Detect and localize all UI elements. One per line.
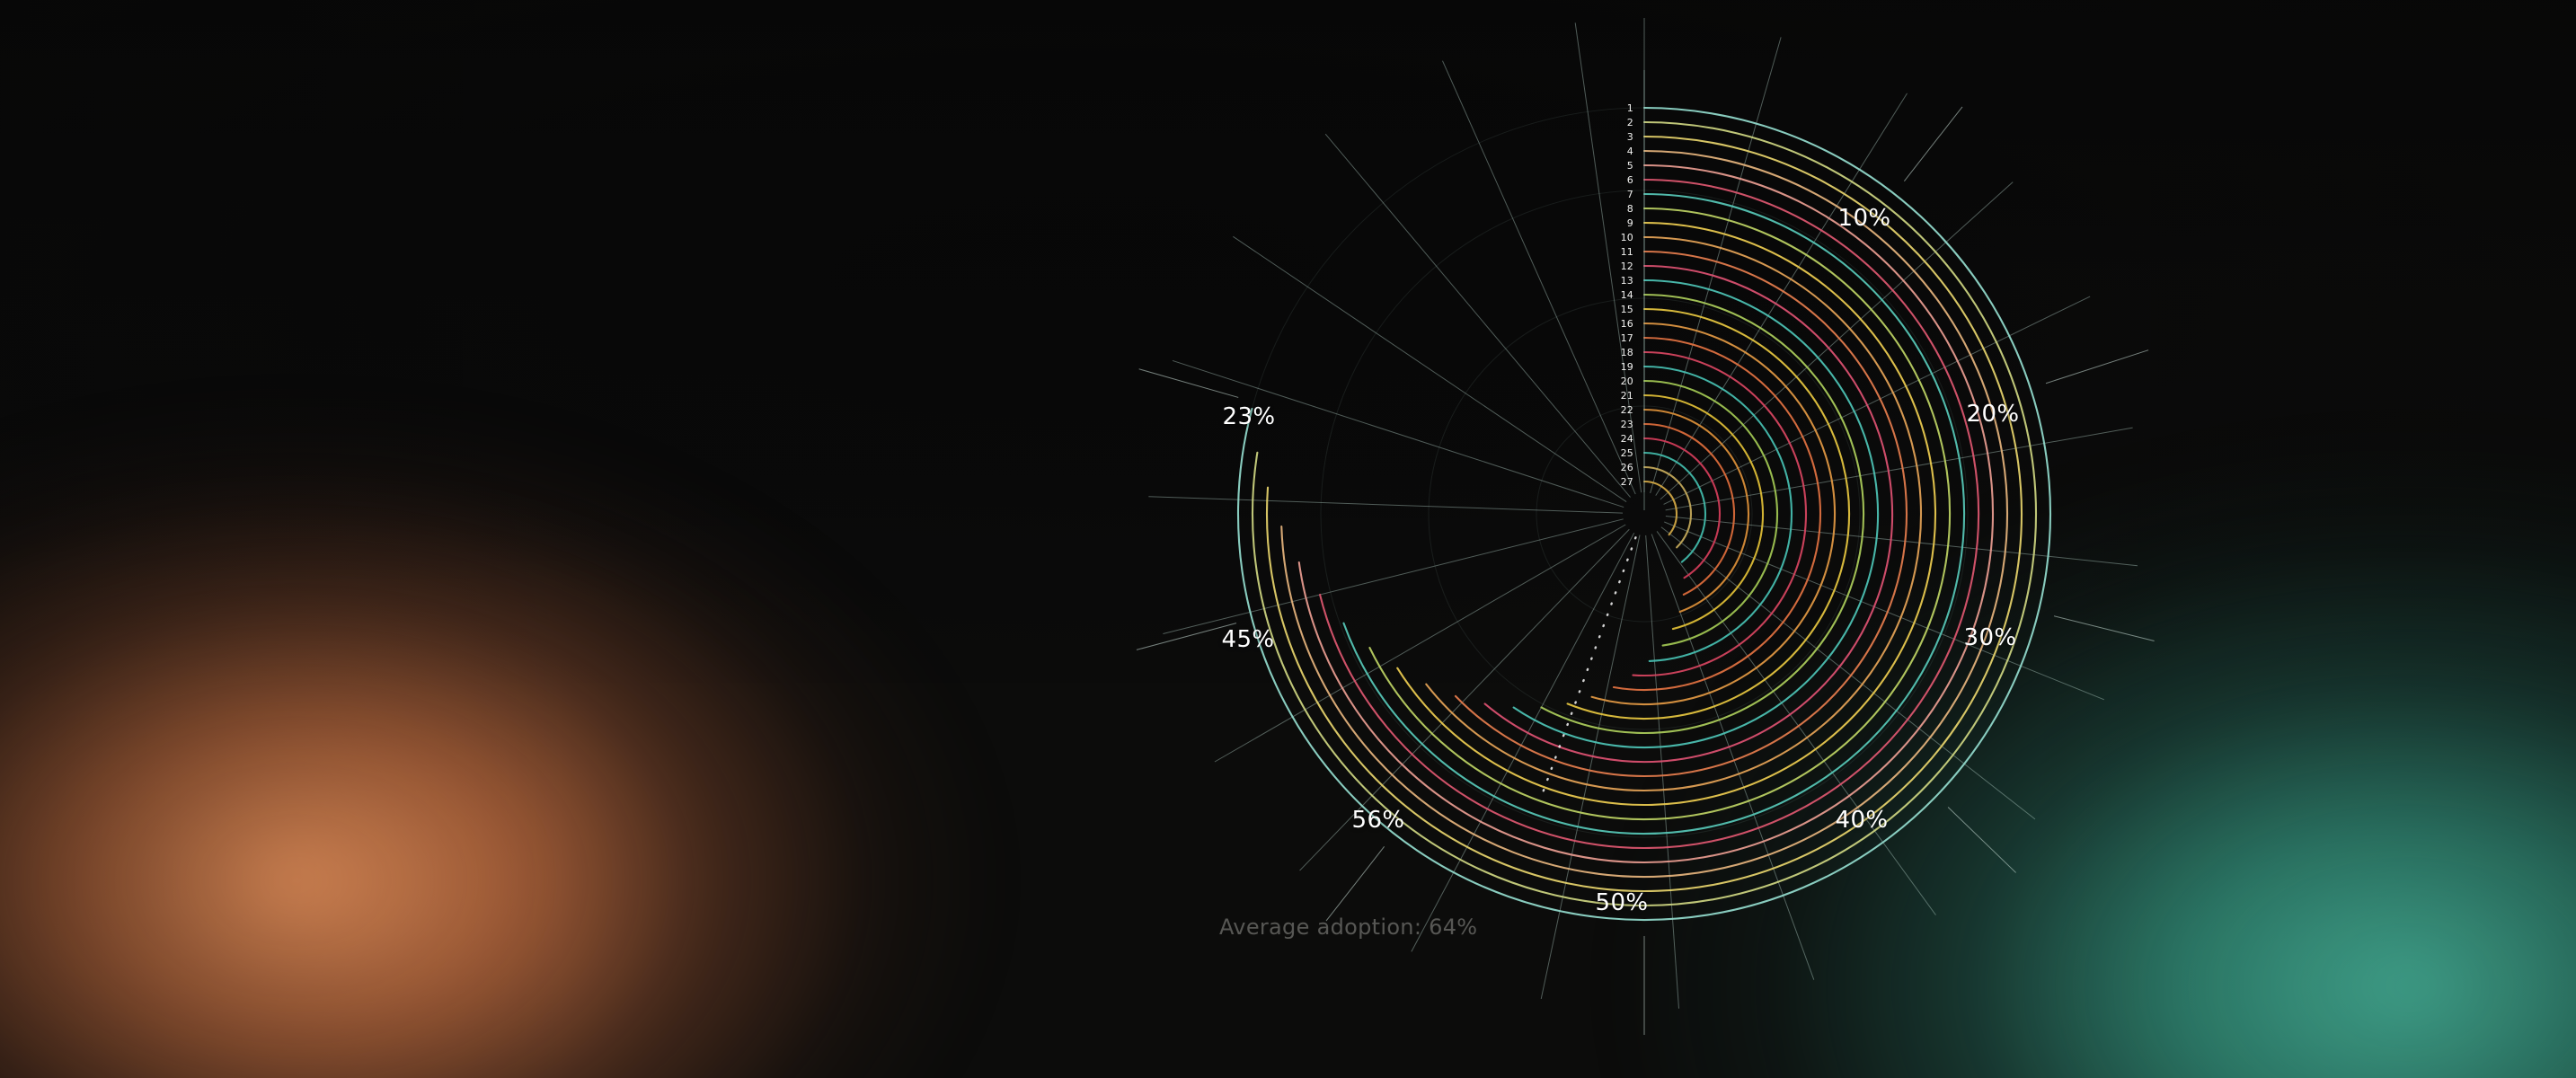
series-arc: [1514, 280, 1878, 747]
percent-tick-50: 50%: [1596, 889, 1649, 916]
percent-tick-45: 45%: [1222, 626, 1275, 653]
spoke-line: [1660, 182, 2013, 499]
percent-tick-30: 30%: [1964, 624, 2017, 651]
spoke-line: [1233, 236, 1626, 501]
ring-index-8: 8: [1607, 203, 1633, 215]
ring-index-25: 25: [1607, 447, 1633, 459]
spoke-line: [1646, 535, 1679, 1009]
percent-tick-10: 10%: [1838, 205, 1891, 232]
ring-index-4: 4: [1607, 146, 1633, 157]
tick-leader: [2046, 350, 2148, 384]
ring-index-22: 22: [1607, 404, 1633, 416]
spoke-line: [1163, 519, 1623, 634]
ring-index-1: 1: [1607, 102, 1633, 114]
ring-index-21: 21: [1607, 390, 1633, 402]
percent-tick-40: 40%: [1836, 807, 1889, 834]
ring-index-23: 23: [1607, 419, 1633, 430]
ring-index-11: 11: [1607, 246, 1633, 258]
ring-index-13: 13: [1607, 275, 1633, 287]
spoke-line: [1148, 497, 1623, 513]
series-arc: [1485, 266, 1892, 762]
series-arc: [1644, 453, 1705, 562]
percent-tick-20: 20%: [1967, 401, 2020, 428]
ring-index-3: 3: [1607, 131, 1633, 143]
ring-index-9: 9: [1607, 217, 1633, 229]
series-arc: [1426, 237, 1921, 791]
series-arc: [1644, 424, 1734, 595]
ring-index-17: 17: [1607, 332, 1633, 344]
ring-index-20: 20: [1607, 376, 1633, 387]
series-arc: [1456, 252, 1907, 776]
dotted-guide-line: [1543, 537, 1635, 792]
ring-index-12: 12: [1607, 261, 1633, 272]
ring-index-24: 24: [1607, 433, 1633, 445]
series-arc: [1644, 438, 1720, 578]
ring-index-15: 15: [1607, 304, 1633, 315]
chart-canvas: 10%20%30%40%50%56%45%23% 123456789101112…: [0, 0, 2576, 1078]
ring-index-5: 5: [1607, 160, 1633, 172]
tick-leader: [1948, 807, 2016, 872]
ring-index-6: 6: [1607, 174, 1633, 186]
tick-leader: [2054, 616, 2155, 641]
spoke-line: [1215, 525, 1625, 762]
average-adoption-note: Average adoption: 64%: [1219, 915, 1477, 940]
tick-leader: [1904, 107, 1962, 181]
polar-spokes: [1148, 18, 2138, 1009]
spoke-line: [1173, 360, 1624, 507]
series-arc: [1299, 165, 1993, 862]
tick-leader: [1139, 369, 1239, 398]
ring-index-19: 19: [1607, 361, 1633, 373]
percent-tick-23: 23%: [1223, 403, 1276, 430]
spoke-line: [1666, 517, 2138, 566]
series-arc: [1644, 395, 1763, 629]
ring-index-26: 26: [1607, 462, 1633, 473]
ring-index-10: 10: [1607, 232, 1633, 243]
spoke-line: [1325, 134, 1630, 497]
dotted-guide: [1543, 537, 1635, 792]
percent-tick-56: 56%: [1352, 807, 1405, 834]
ring-index-2: 2: [1607, 117, 1633, 128]
ring-index-14: 14: [1607, 289, 1633, 301]
ring-index-7: 7: [1607, 189, 1633, 200]
ring-index-27: 27: [1607, 476, 1633, 488]
ring-index-18: 18: [1607, 347, 1633, 358]
ring-index-16: 16: [1607, 318, 1633, 330]
tick-leader: [1326, 846, 1385, 921]
spoke-line: [1541, 535, 1640, 998]
spoke-line: [1651, 535, 1814, 980]
